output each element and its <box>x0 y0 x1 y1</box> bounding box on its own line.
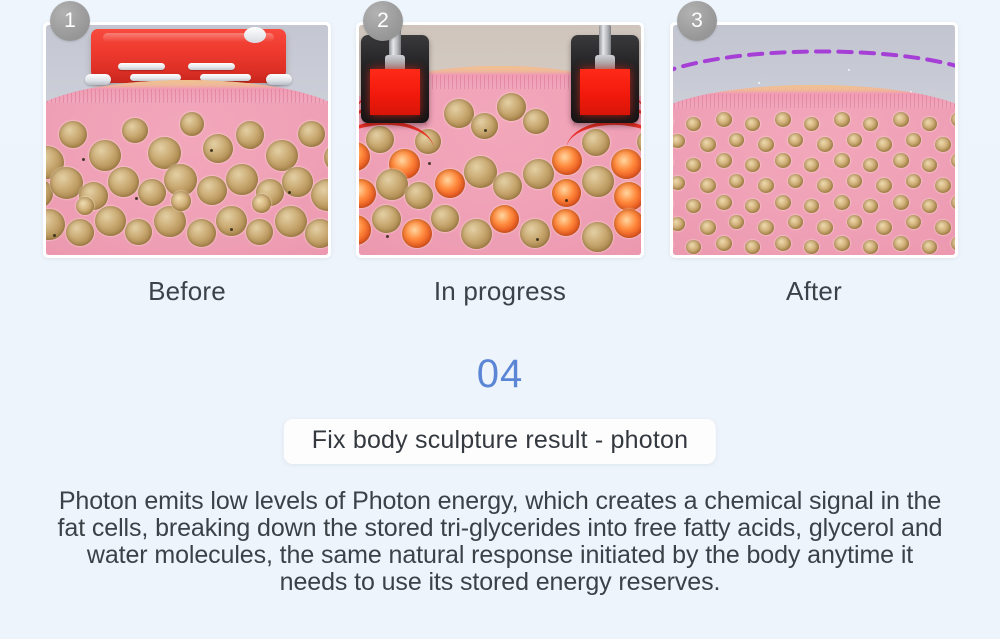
section-title-pill: Fix body sculpture result - photon <box>284 419 716 464</box>
step-3-card: 3 <box>670 22 958 258</box>
step-1-caption: Before <box>43 276 331 307</box>
panel-1-fat-cell-cluster <box>46 103 328 255</box>
step-1-card: 1 <box>43 22 331 258</box>
target-contour-dashed-line <box>673 39 955 85</box>
paddle-knob <box>244 27 266 43</box>
step-1-badge: 1 <box>50 1 90 41</box>
laser-emitter-left <box>370 69 420 115</box>
step-3-badge: 3 <box>677 1 717 41</box>
laser-applicator-head-left <box>361 25 429 123</box>
step-3-caption: After <box>670 276 958 307</box>
laser-emitter-right <box>580 69 630 115</box>
step-2-card: 2 <box>356 22 644 258</box>
step-1-before: 1 Before <box>43 22 331 307</box>
step-3-after: 3 After <box>670 22 958 307</box>
step-2-badge: 2 <box>363 1 403 41</box>
section-body-text: Photon emits low levels of Photon energy… <box>50 488 950 596</box>
reduced-fat-cells-after-treatment-illustration <box>673 25 955 255</box>
panel-3-reduced-fat-cell-grid <box>673 108 955 255</box>
step-2-caption: In progress <box>356 276 644 307</box>
section-number: 04 <box>0 352 1000 397</box>
step-2-in-progress: 2 In progress <box>356 22 644 307</box>
section-title: Fix body sculpture result - photon <box>312 426 688 455</box>
panel-1-tissue-layers <box>46 80 328 255</box>
infographic-page: 1 Before <box>0 0 1000 639</box>
laser-applicators-treating-fat-cells-illustration <box>359 25 641 255</box>
fat-cells-before-treatment-illustration <box>46 25 328 255</box>
laser-applicator-head-right <box>571 25 639 123</box>
treatment-steps-row: 1 Before <box>0 0 1000 340</box>
red-applicator-paddle <box>91 29 286 83</box>
panel-3-tissue-layers <box>673 85 955 255</box>
